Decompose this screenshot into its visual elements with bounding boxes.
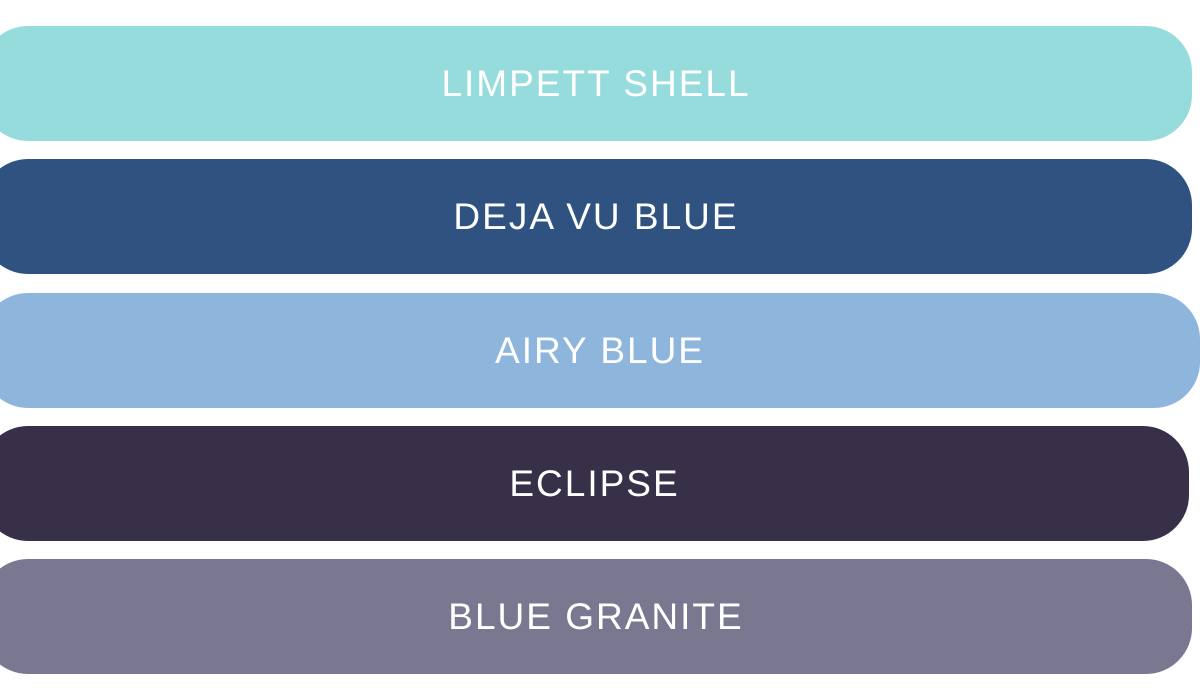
color-swatch-label: LIMPETT SHELL: [441, 65, 750, 102]
color-swatch-airy-blue[interactable]: AIRY BLUE: [0, 293, 1200, 408]
color-palette: LIMPETT SHELL DEJA VU BLUE AIRY BLUE ECL…: [0, 0, 1200, 700]
color-swatch-label: AIRY BLUE: [495, 332, 705, 369]
color-swatch-limpett-shell[interactable]: LIMPETT SHELL: [0, 26, 1192, 141]
color-swatch-label: BLUE GRANITE: [448, 598, 743, 635]
color-swatch-label: ECLIPSE: [509, 465, 679, 502]
color-swatch-eclipse[interactable]: ECLIPSE: [0, 426, 1189, 541]
color-swatch-blue-granite[interactable]: BLUE GRANITE: [0, 559, 1192, 674]
color-swatch-deja-vu-blue[interactable]: DEJA VU BLUE: [0, 159, 1192, 274]
color-swatch-label: DEJA VU BLUE: [453, 198, 738, 235]
